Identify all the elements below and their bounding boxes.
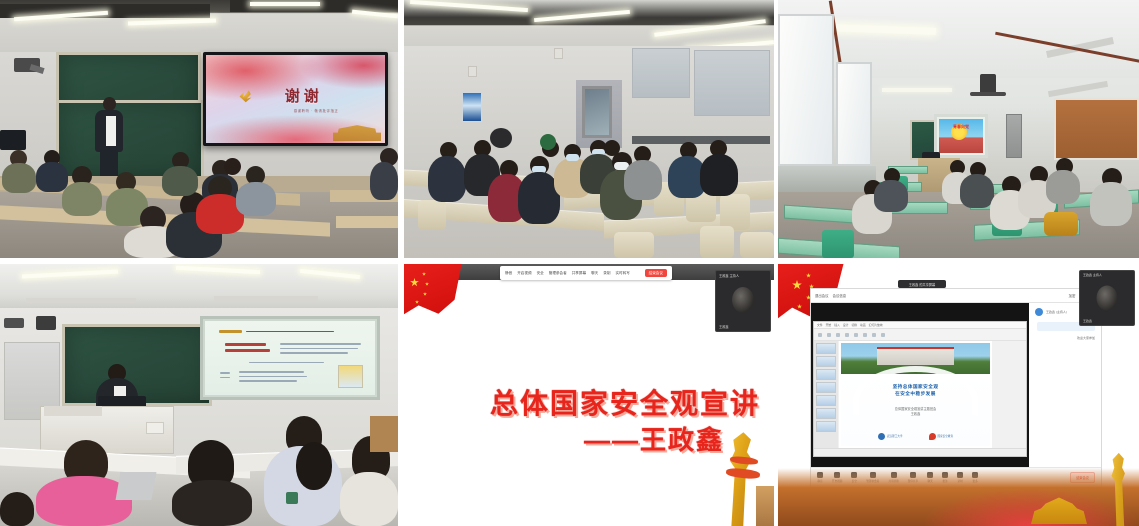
powerpoint-statusbar	[814, 448, 1026, 456]
speaker-box-icon	[4, 318, 24, 328]
party-emblem-icon	[238, 87, 255, 104]
seat	[720, 194, 750, 230]
audience-body	[162, 166, 198, 196]
meeting-top-bar[interactable]: 退出会议 会议信息 加密 视图 全屏	[811, 289, 1101, 303]
projection-screen	[200, 316, 380, 400]
window-sill	[778, 166, 876, 192]
topbar-item-exit[interactable]: 退出会议	[815, 293, 829, 298]
side-monitor	[0, 130, 26, 150]
video-thumbnail-panel[interactable]: 王政鑫 主持人 王政鑫	[715, 270, 771, 332]
campus-building	[877, 347, 954, 365]
end-meeting-button[interactable]: 结束会议	[645, 269, 667, 277]
slide-thumbnail[interactable]	[816, 356, 836, 367]
sharing-banner: 王政鑫 的共享屏幕	[898, 280, 946, 288]
ceiling-rail	[214, 296, 318, 301]
slide-headline: 青春向党	[939, 124, 983, 130]
participant-head	[732, 287, 754, 313]
student-body	[960, 174, 994, 208]
seat	[740, 232, 774, 258]
chinese-flag-icon	[404, 264, 462, 332]
photo-tile-title-slide[interactable]: 静音 开启视频 安全 管理参会者 共享屏幕 聊天 录制 实时转写 结束会议 王政…	[404, 264, 774, 526]
slide-title-line2: 在安全中稳步发展	[841, 391, 990, 398]
participant-name: 王政鑫 (主持人)	[1046, 310, 1067, 314]
ceiling-light	[882, 88, 952, 92]
ribbon-icon[interactable]	[836, 333, 840, 337]
student-body	[172, 480, 252, 526]
photo-collage: 谢谢 感谢聆听 · 敬请批评指正 MAC	[0, 0, 1139, 526]
powerpoint-window[interactable]: 文件 开始 插入 设计 切换 动画 幻灯片放映	[813, 321, 1027, 457]
decorative-edge	[756, 486, 774, 526]
toolbar-item-share[interactable]: 共享屏幕	[572, 271, 586, 276]
topbar-item-encrypt[interactable]: 加密	[1069, 293, 1076, 298]
toolbar-item-mute[interactable]: 静音	[505, 271, 512, 276]
seat	[700, 226, 734, 258]
slide-thumbnail	[338, 365, 364, 387]
audience-body	[236, 182, 276, 216]
ppt-menu-insert[interactable]: 插入	[834, 323, 840, 327]
slide-thankyou: 谢谢 感谢聆听 · 敬请批评指正	[206, 55, 385, 143]
ceiling-light-fixture	[1048, 81, 1108, 97]
ribbon-icon[interactable]	[863, 333, 867, 337]
presenter-legs	[100, 150, 118, 176]
backpack	[490, 128, 512, 148]
ceiling-light	[250, 2, 320, 6]
slide-thumbnail[interactable]	[816, 382, 836, 393]
slide-sub-line2: 王政鑫	[841, 412, 990, 417]
slide-title: 坚持总体国家安全观 在安全中稳步发展	[841, 384, 990, 398]
audience-body	[36, 162, 68, 192]
ribbon-icon[interactable]	[845, 333, 849, 337]
logo-security: 国家安全教育	[929, 433, 954, 440]
student-body	[624, 160, 662, 200]
video-tile-name: 王政鑫	[1083, 319, 1092, 323]
avatar	[1035, 308, 1043, 316]
seat	[418, 200, 446, 230]
paper-stack	[146, 422, 164, 434]
projector-mount	[36, 316, 56, 330]
audience-head	[224, 158, 241, 175]
chat-panel[interactable]: 王政鑫 (主持人) 欢迎大家参加	[1029, 303, 1101, 467]
toolbar-item-chat[interactable]: 聊天	[591, 271, 598, 276]
chair	[822, 230, 854, 258]
video-tile-label: 王政鑫 主持人	[719, 273, 739, 278]
slide-thumbnail[interactable]	[816, 369, 836, 380]
slide-logos: 武汉理工大学 国家安全教育	[841, 433, 990, 440]
backpack	[1044, 212, 1078, 236]
presenter-shirt	[106, 116, 116, 146]
powerpoint-ribbon[interactable]	[814, 329, 1026, 341]
student-body	[700, 154, 738, 196]
photo-tile-classroom-thankyou[interactable]: 谢谢 感谢聆听 · 敬请批评指正 MAC	[0, 0, 398, 258]
wall-fixture	[554, 48, 563, 59]
slide-content	[205, 321, 375, 395]
ppt-menu-animation[interactable]: 动画	[860, 323, 866, 327]
presenter-head	[103, 97, 116, 111]
slide-presenter: ——王政鑫	[584, 420, 724, 457]
ribbon-icon[interactable]	[872, 333, 876, 337]
slide-thumbnail[interactable]	[816, 421, 836, 432]
logo-university: 武汉理工大学	[878, 433, 903, 440]
window	[582, 86, 612, 138]
toolbar-item-security[interactable]: 安全	[537, 271, 544, 276]
window-sill	[632, 136, 770, 144]
current-slide: 坚持总体国家安全观 在安全中稳步发展 总体国家安全观宣讲主题班会 王政鑫 武	[841, 343, 990, 446]
face-mask	[566, 154, 579, 161]
seat	[614, 232, 654, 258]
chat-message-row: 欢迎大家参加	[1035, 336, 1095, 340]
student-head	[604, 140, 620, 156]
slide-thumbnail[interactable]	[816, 408, 836, 419]
ppt-menu-design[interactable]: 设计	[843, 323, 849, 327]
ppt-menu-transition[interactable]: 切换	[851, 323, 857, 327]
slide-title: 总体国家安全观宣讲	[490, 382, 760, 422]
ppt-menu-home[interactable]: 开始	[826, 323, 832, 327]
door	[1006, 114, 1022, 158]
ribbon-icon[interactable]	[881, 333, 885, 337]
window-blind	[694, 50, 770, 116]
laptop	[116, 472, 157, 500]
student-body	[1090, 182, 1132, 226]
security-badge-icon	[929, 433, 936, 440]
projection-screen: 谢谢 感谢聆听 · 敬请批评指正	[203, 52, 388, 146]
slide-subtitle: 总体国家安全观宣讲主题班会 王政鑫	[841, 407, 990, 417]
ribbon-icon[interactable]	[818, 333, 822, 337]
ppt-menu-slideshow[interactable]: 幻灯片放映	[869, 323, 883, 327]
wooden-panel	[370, 416, 398, 452]
slide-stage: 坚持总体国家安全观 在安全中稳步发展 总体国家安全观宣讲主题班会 王政鑫 武	[839, 341, 992, 448]
tiananmen-gate-icon	[333, 119, 381, 141]
university-seal-icon	[878, 433, 885, 440]
ribbon-icon[interactable]	[827, 333, 831, 337]
cup	[286, 492, 298, 504]
video-thumbnail-panel[interactable]: 王政鑫 主持人 王政鑫	[1079, 270, 1135, 326]
ceiling-fan-blade	[970, 92, 1006, 96]
slide-subtitle: 感谢聆听 · 敬请批评指正	[294, 108, 339, 113]
photo-tile-lecture-laptops[interactable]	[0, 264, 398, 526]
podium-shelf	[44, 406, 102, 416]
window-blind	[632, 48, 690, 98]
audience-body	[370, 162, 398, 200]
participant-head	[1097, 286, 1118, 311]
toolbar-item-transcribe[interactable]: 实时转写	[615, 271, 629, 276]
student-head	[540, 134, 556, 150]
audience-body	[2, 163, 36, 193]
photo-tile-screenshare-meeting[interactable]: 王政鑫 的共享屏幕 退出会议 会议信息 加密 视图 全屏 文件 开始 插入 设计…	[778, 264, 1139, 526]
student-body	[874, 180, 908, 212]
photo-tile-seated-students[interactable]	[404, 0, 774, 258]
window-left	[836, 62, 872, 166]
student-body	[428, 156, 466, 202]
logo-university-label: 武汉理工大学	[887, 434, 903, 438]
topbar-item-info[interactable]: 会议信息	[833, 293, 847, 298]
student-body	[1046, 170, 1080, 204]
ribbon-icon[interactable]	[854, 333, 858, 337]
chat-message: 欢迎大家参加	[1077, 336, 1095, 340]
video-tile-name: 王政鑫	[719, 324, 729, 329]
ppt-menu-file[interactable]: 文件	[817, 323, 823, 327]
meeting-window[interactable]: 退出会议 会议信息 加密 视图 全屏 文件 开始 插入 设计 切换 动画 幻灯片…	[810, 288, 1102, 488]
student-head	[0, 492, 34, 526]
cork-board	[1054, 98, 1139, 160]
audience-body	[62, 182, 102, 216]
desk-row	[336, 216, 398, 228]
slide-thumbnail[interactable]	[816, 343, 836, 354]
safety-poster	[462, 92, 482, 122]
meeting-toolbar[interactable]: 静音 开启视频 安全 管理参会者 共享屏幕 聊天 录制 实时转写 结束会议	[500, 266, 672, 280]
toolbar-item-video[interactable]: 开启视频	[517, 271, 531, 276]
slide-thumbnail-pane[interactable]	[814, 341, 838, 448]
toolbar-item-participants[interactable]: 管理参会者	[549, 271, 567, 276]
powerpoint-menubar[interactable]: 文件 开始 插入 设计 切换 动画 幻灯片放映	[814, 322, 1026, 329]
shared-screen-area: 文件 开始 插入 设计 切换 动画 幻灯片放映	[811, 303, 1029, 475]
photo-tile-green-desk-classroom[interactable]: 青春向党	[778, 0, 1139, 258]
window-left	[778, 14, 834, 166]
wall-fixture	[468, 66, 477, 77]
logo-security-label: 国家安全教育	[938, 434, 954, 438]
student-hair	[296, 442, 332, 490]
projection-screen: 青春向党	[934, 114, 988, 158]
slide-thumbnail[interactable]	[816, 395, 836, 406]
projected-slide: 青春向党	[939, 119, 983, 153]
column-band	[726, 467, 761, 480]
toolbar-item-record[interactable]: 录制	[603, 271, 610, 276]
ceiling-rail	[26, 298, 136, 303]
student-body	[340, 472, 398, 526]
slide-headline: 谢谢	[285, 85, 323, 106]
video-tile-label: 王政鑫 主持人	[1083, 273, 1102, 277]
